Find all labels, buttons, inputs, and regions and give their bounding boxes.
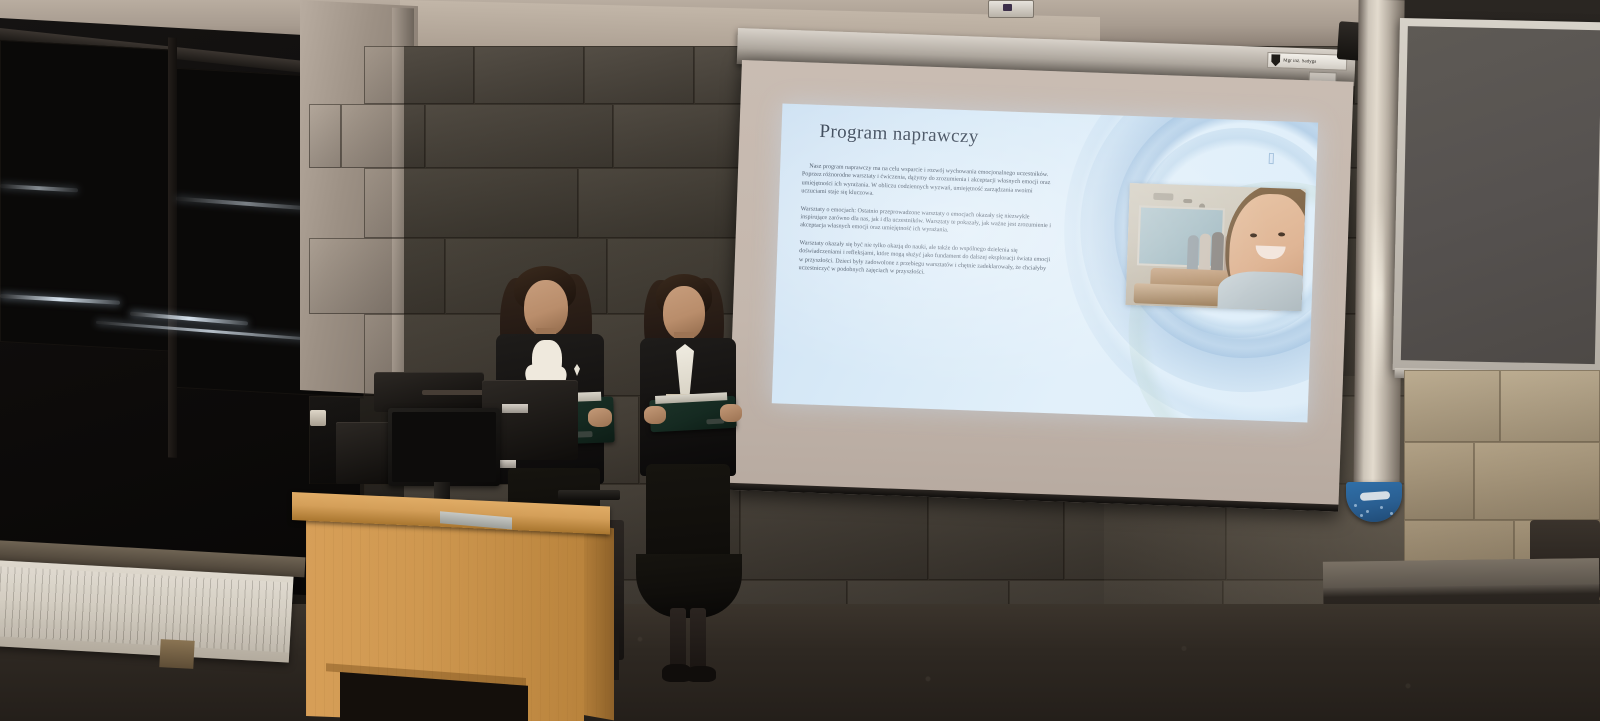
av-equipment bbox=[336, 372, 586, 502]
monitor[interactable] bbox=[388, 408, 500, 486]
hand bbox=[588, 408, 612, 427]
photo-projector-icon bbox=[1153, 193, 1173, 201]
mouse-cursor-icon bbox=[1269, 153, 1274, 164]
ceiling-fixture-icon bbox=[988, 0, 1034, 18]
slide-paragraph: Warsztaty okazały się być nie tylko okaz… bbox=[798, 239, 1051, 282]
slide-photo bbox=[1125, 183, 1305, 311]
equipment-label bbox=[502, 404, 528, 413]
leg bbox=[670, 608, 686, 670]
wall-socket bbox=[310, 410, 326, 426]
screen-brand-text: Mgr inż. Sadyga bbox=[1283, 58, 1316, 64]
desk-front-panel bbox=[306, 516, 584, 721]
radiator-support bbox=[159, 639, 194, 669]
photo-selfie-shirt bbox=[1217, 270, 1306, 311]
slide-body: Nasz program naprawczy ma na celu wsparc… bbox=[798, 162, 1054, 290]
slide-paragraph: Warsztaty o emocjach: Ostatnio przeprowa… bbox=[800, 205, 1053, 239]
skirt-hem bbox=[636, 554, 742, 618]
window-blind-left bbox=[0, 40, 170, 352]
chalkboard-surface bbox=[1401, 26, 1600, 364]
stone-block bbox=[584, 46, 694, 104]
hand bbox=[644, 406, 666, 424]
stone-block bbox=[474, 46, 584, 104]
window-mullion bbox=[168, 37, 177, 458]
stone-block bbox=[364, 168, 578, 238]
stone-block bbox=[309, 104, 341, 168]
projected-slide: Program naprawczy Nasz program naprawczy… bbox=[772, 103, 1318, 422]
presenter-right bbox=[632, 278, 762, 698]
slide-title: Program naprawczy bbox=[819, 121, 979, 149]
table-surface bbox=[1323, 558, 1599, 588]
av-side-unit bbox=[336, 422, 390, 484]
radiator-fins bbox=[0, 566, 293, 653]
photo-eye bbox=[1278, 232, 1285, 236]
stone-block bbox=[613, 104, 749, 168]
photo-eye bbox=[1250, 233, 1257, 237]
stone-block bbox=[341, 104, 425, 168]
monitor-screen bbox=[392, 412, 496, 482]
chalkboard bbox=[1393, 18, 1600, 374]
screen-brand-label: Mgr inż. Sadyga bbox=[1267, 52, 1348, 71]
crest-icon bbox=[1271, 54, 1280, 66]
paper-on-desk bbox=[440, 511, 512, 529]
radiator bbox=[0, 560, 294, 663]
shoe bbox=[686, 666, 716, 682]
pillar-highlight bbox=[1372, 200, 1384, 390]
projection-screen: Program naprawczy Nasz program naprawczy… bbox=[727, 60, 1354, 512]
stone-block bbox=[740, 484, 928, 580]
leg bbox=[690, 608, 706, 670]
av-rack-unit bbox=[374, 372, 484, 412]
stone-block bbox=[309, 238, 445, 314]
lecture-hall-photo: Mgr inż. Sadyga Program naprawczy Nasz p… bbox=[0, 0, 1600, 721]
photo-wall-dot bbox=[1183, 199, 1192, 203]
lectern-desk[interactable] bbox=[292, 492, 610, 721]
stone-block bbox=[364, 46, 474, 104]
stone-block bbox=[425, 104, 613, 168]
hand bbox=[720, 404, 742, 422]
slide-paragraph: Nasz program naprawczy ma na celu wsparc… bbox=[801, 162, 1054, 205]
